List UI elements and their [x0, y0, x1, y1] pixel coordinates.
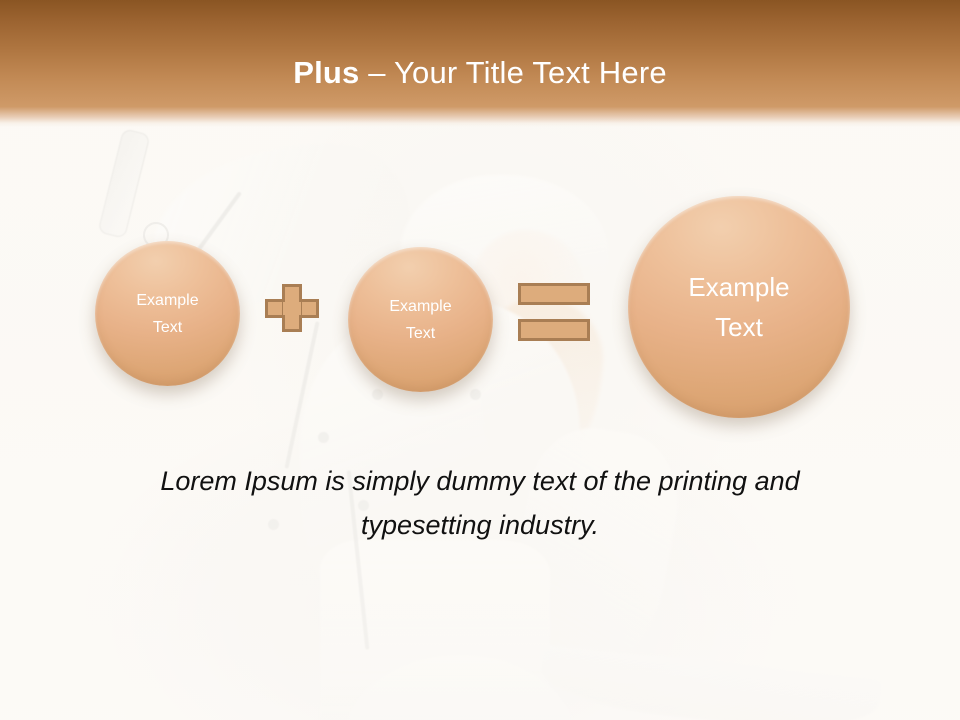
- operand-2-text: Example Text: [389, 293, 451, 347]
- equals-icon: [518, 283, 590, 341]
- page-title-lead: Plus: [293, 55, 359, 90]
- plus-icon-center-fill: [283, 302, 301, 315]
- caption-line1: Lorem Ipsum is simply dummy text of the …: [160, 466, 747, 496]
- page-title: Plus – Your Title Text Here: [0, 53, 960, 93]
- equals-icon-top-bar: [518, 283, 590, 305]
- operand-1-line1: Example: [136, 287, 198, 314]
- operand-circle-2[interactable]: Example Text: [348, 247, 493, 392]
- result-line1: Example: [688, 267, 789, 307]
- caption: Lorem Ipsum is simply dummy text of the …: [110, 459, 850, 547]
- equals-icon-bottom-bar: [518, 319, 590, 341]
- result-line2: Text: [688, 307, 789, 347]
- plus-icon: [265, 284, 319, 332]
- operand-1-line2: Text: [136, 314, 198, 341]
- slide: Plus – Your Title Text Here Example Text…: [0, 0, 960, 720]
- operand-2-line2: Text: [389, 320, 451, 347]
- result-text: Example Text: [688, 267, 789, 347]
- page-title-rest: – Your Title Text Here: [359, 55, 666, 90]
- result-circle[interactable]: Example Text: [628, 196, 850, 418]
- operand-circle-1[interactable]: Example Text: [95, 241, 240, 386]
- operand-1-text: Example Text: [136, 287, 198, 341]
- operand-2-line1: Example: [389, 293, 451, 320]
